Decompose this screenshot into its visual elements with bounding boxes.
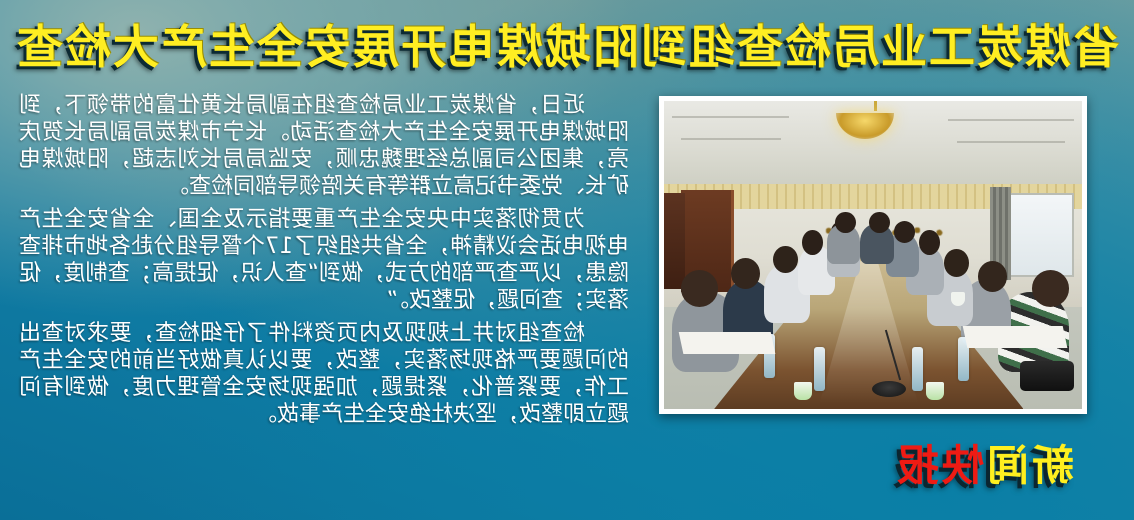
attendee bbox=[978, 261, 1007, 292]
attendee bbox=[802, 230, 823, 255]
meeting-photo bbox=[664, 101, 1082, 409]
attendee bbox=[773, 246, 798, 274]
attendee-head-of-table bbox=[869, 212, 890, 234]
badge-text-secondary: 快报 bbox=[894, 441, 984, 490]
badge-text-primary: 新闻 bbox=[984, 441, 1074, 490]
article-paragraph: 检查组对井上规现及内页资料件了仔细检查，要求对查出的问题要严格现场落实，整改，要… bbox=[19, 320, 629, 428]
camera-icon bbox=[1020, 361, 1074, 391]
door-secondary bbox=[664, 193, 685, 288]
window bbox=[1007, 193, 1074, 277]
attendee bbox=[944, 249, 969, 277]
attendee bbox=[731, 258, 760, 289]
news-poster: 省煤炭工业局检查组到阳城煤电开展安全生产大检查 bbox=[0, 0, 1134, 520]
water-bottle bbox=[912, 347, 923, 391]
attendee bbox=[894, 221, 915, 243]
attendee bbox=[919, 230, 940, 255]
document-paper bbox=[963, 326, 1068, 348]
ceiling-line bbox=[948, 119, 1073, 121]
page-title: 省煤炭工业局检查组到阳城煤电开展安全生产大检查 bbox=[15, 11, 1119, 77]
article-paragraph: 近日，省煤炭工业局检查组在副局长黄仕富的带领下，到阳城煤电开展安全生产大检查活动… bbox=[19, 92, 629, 200]
paper-cup bbox=[926, 382, 944, 400]
ceiling-line bbox=[681, 138, 781, 140]
microphone-icon bbox=[872, 381, 906, 397]
article-paragraph: 为贯彻落实中央安全生产重要指示及全国、全省安全生产电视电话会议精神，全省共组织了… bbox=[19, 206, 629, 314]
article-body: 近日，省煤炭工业局检查组在副局长黄仕富的带领下，到阳城煤电开展安全生产大检查活动… bbox=[19, 92, 629, 434]
document-paper bbox=[678, 332, 775, 354]
meeting-photo-frame bbox=[659, 96, 1087, 414]
ceiling-line bbox=[672, 116, 789, 118]
chandelier-stem bbox=[874, 101, 877, 111]
paper-cup bbox=[951, 292, 965, 306]
water-bottle bbox=[814, 347, 825, 391]
ceiling-line bbox=[957, 141, 1066, 143]
news-bulletin-badge: 新闻快报 bbox=[894, 432, 1074, 493]
poster-title-bar: 省煤炭工业局检查组到阳城煤电开展安全生产大检查 bbox=[0, 10, 1134, 78]
paper-cup bbox=[794, 382, 812, 400]
